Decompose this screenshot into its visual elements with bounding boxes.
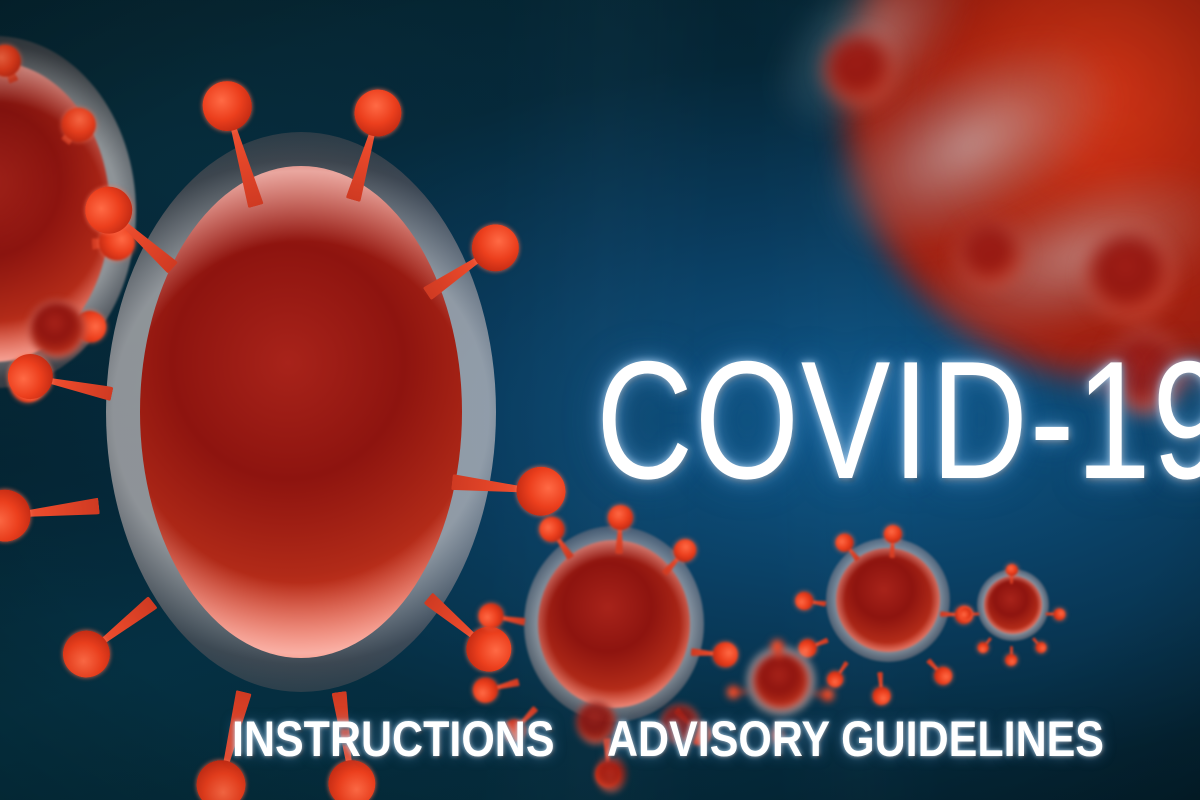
spike xyxy=(771,639,785,661)
virus-tiny-center xyxy=(752,652,810,710)
blurred-spike-head-topleft xyxy=(824,34,894,104)
page-title: COVID-19 xyxy=(596,336,1200,504)
subtitle-instructions: INSTRUCTIONS xyxy=(232,714,555,764)
blurred-spike-head-right xyxy=(1086,232,1172,318)
covid-banner: COVID-19 INSTRUCTIONS ADVISORY GUIDELINE… xyxy=(0,0,1200,800)
spike xyxy=(813,689,833,701)
blurred-spike-head-mid xyxy=(958,222,1022,286)
spike xyxy=(1046,609,1066,620)
spike xyxy=(960,609,980,620)
spike xyxy=(1029,635,1048,655)
spike xyxy=(415,583,517,678)
virus-mid-bottom xyxy=(538,540,690,708)
subtitle-advisory-guidelines: ADVISORY GUIDELINES xyxy=(607,714,1104,764)
subtitle-row: INSTRUCTIONS ADVISORY GUIDELINES xyxy=(232,714,1152,764)
spike xyxy=(872,671,890,704)
spike xyxy=(472,671,522,703)
virus-tiny-right xyxy=(984,576,1042,634)
spike xyxy=(727,687,747,699)
spike xyxy=(884,526,901,559)
spike xyxy=(1006,646,1017,666)
spike xyxy=(690,641,737,666)
spike xyxy=(922,654,954,687)
spike xyxy=(826,658,853,689)
virus-small-right xyxy=(836,548,940,652)
spike xyxy=(57,585,166,683)
edge-virus-left-spike-head xyxy=(28,300,86,358)
spike xyxy=(795,592,827,612)
spike xyxy=(1006,564,1017,584)
spike xyxy=(976,635,995,655)
main-virus xyxy=(140,166,462,658)
spike xyxy=(0,483,101,541)
